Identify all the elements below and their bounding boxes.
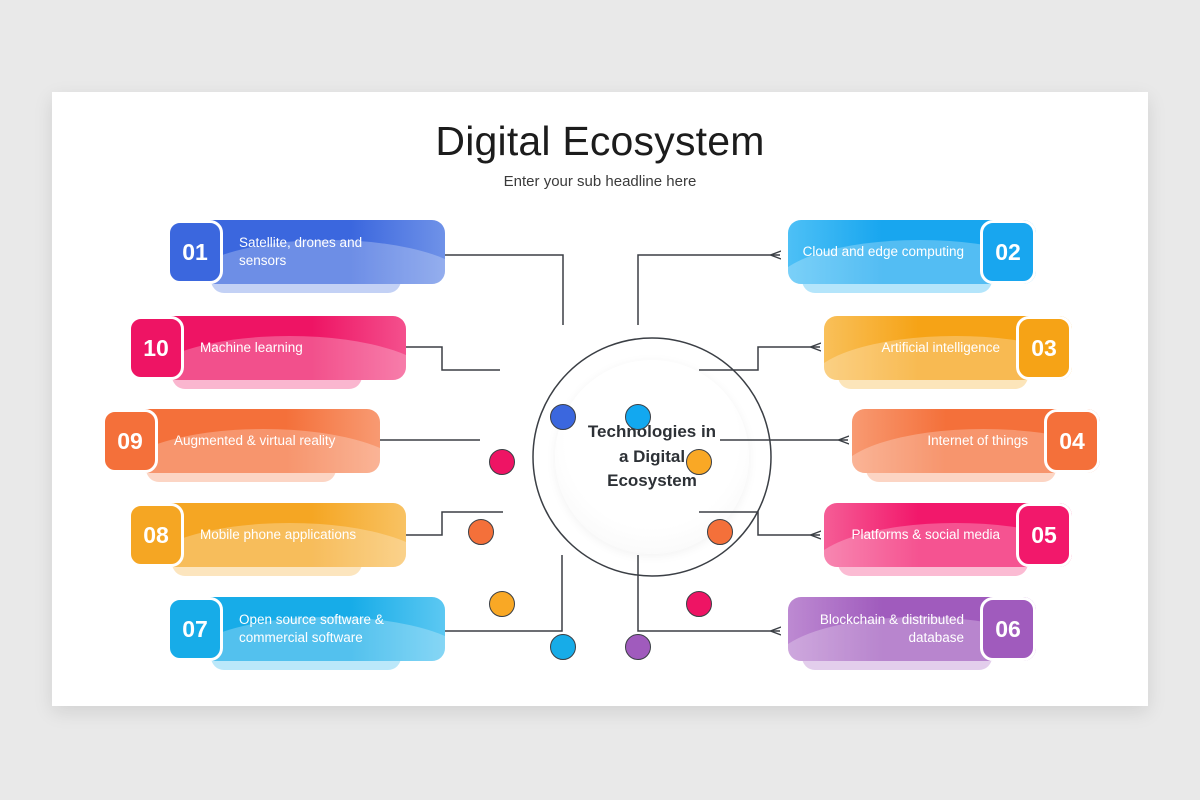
card-08[interactable]: Mobile phone applications 08	[128, 503, 376, 567]
card-01[interactable]: Satellite, drones and sensors 01	[167, 220, 415, 284]
hub-dot-04[interactable]	[707, 519, 733, 545]
card-number-badge: 08	[128, 503, 184, 567]
card-number-badge: 07	[167, 597, 223, 661]
card-number-badge: 06	[980, 597, 1036, 661]
card-10[interactable]: Machine learning 10	[128, 316, 376, 380]
card-label: Machine learning	[200, 316, 362, 380]
card-07[interactable]: Open source software & commercial softwa…	[167, 597, 415, 661]
card-number-badge: 10	[128, 316, 184, 380]
hub-dot-08[interactable]	[489, 591, 515, 617]
card-number-badge: 04	[1044, 409, 1100, 473]
card-label: Platforms & social media	[838, 503, 1000, 567]
card-label: Augmented & virtual reality	[174, 409, 336, 473]
card-03[interactable]: Artificial intelligence 03	[824, 316, 1072, 380]
card-number-badge: 02	[980, 220, 1036, 284]
card-09[interactable]: Augmented & virtual reality 09	[102, 409, 350, 473]
hub-label: Technologies ina DigitalEcosystem	[550, 420, 754, 494]
card-label: Artificial intelligence	[838, 316, 1000, 380]
page-subtitle: Enter your sub headline here	[52, 173, 1148, 190]
hub-dot-07[interactable]	[550, 634, 576, 660]
page-title: Digital Ecosystem	[52, 118, 1148, 165]
card-label: Mobile phone applications	[200, 503, 362, 567]
card-number-badge: 01	[167, 220, 223, 284]
hub-dot-09[interactable]	[468, 519, 494, 545]
card-label: Internet of things	[866, 409, 1028, 473]
hub-dot-06[interactable]	[625, 634, 651, 660]
card-05[interactable]: Platforms & social media 05	[824, 503, 1072, 567]
card-label: Blockchain & distributed database	[802, 597, 964, 661]
card-number-badge: 09	[102, 409, 158, 473]
card-number-badge: 05	[1016, 503, 1072, 567]
card-number-badge: 03	[1016, 316, 1072, 380]
card-04[interactable]: Internet of things 04	[852, 409, 1100, 473]
card-label: Cloud and edge computing	[802, 220, 964, 284]
hub-dot-03[interactable]	[686, 449, 712, 475]
card-label: Open source software & commercial softwa…	[239, 597, 401, 661]
card-02[interactable]: Cloud and edge computing 02	[788, 220, 1036, 284]
card-06[interactable]: Blockchain & distributed database 06	[788, 597, 1036, 661]
hub-dot-01[interactable]	[550, 404, 576, 430]
hub-dot-05[interactable]	[686, 591, 712, 617]
slide-canvas: Digital Ecosystem Enter your sub headlin…	[52, 92, 1148, 706]
hub-dot-02[interactable]	[625, 404, 651, 430]
center-hub: Technologies ina DigitalEcosystem	[520, 325, 784, 589]
card-label: Satellite, drones and sensors	[239, 220, 401, 284]
hub-dot-10[interactable]	[489, 449, 515, 475]
